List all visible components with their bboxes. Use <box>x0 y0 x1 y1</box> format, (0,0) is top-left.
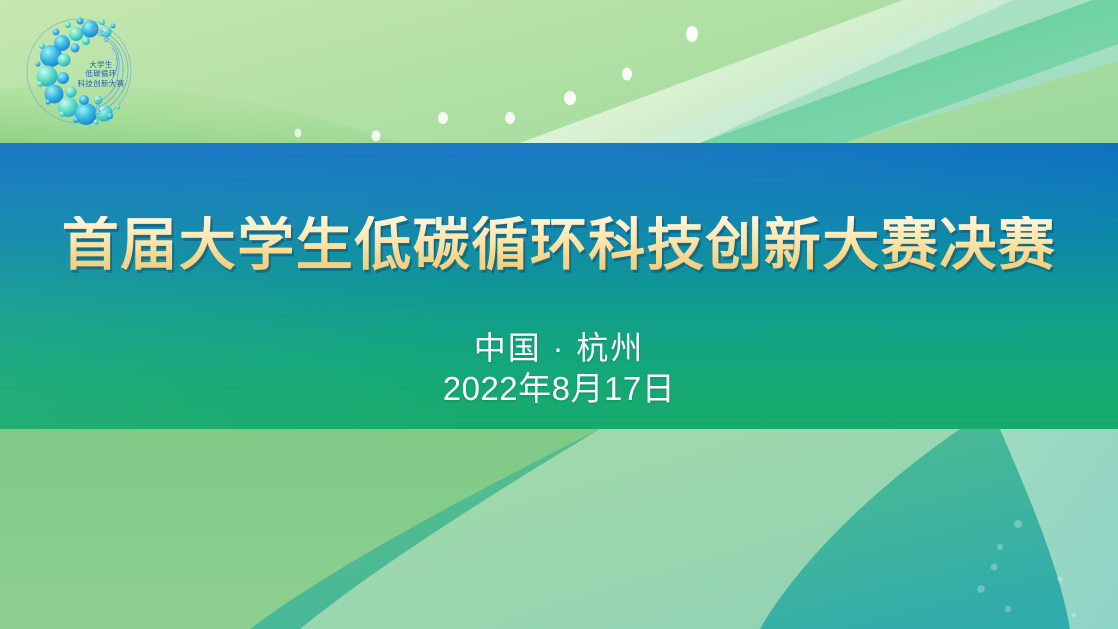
bottom-decorative-band <box>0 429 1118 629</box>
event-poster: 大学生 低碳循环 科技创新大赛 首届大学生低碳循环科技创新大赛决赛 中国 · 杭… <box>0 0 1118 629</box>
subtitle-container: 中国 · 杭州 2022年8月17日 <box>0 328 1118 410</box>
page-title-container: 首届大学生低碳循环科技创新大赛决赛 <box>0 216 1118 274</box>
top-background-graphics <box>0 0 1118 143</box>
top-decorative-band: 大学生 低碳循环 科技创新大赛 <box>0 0 1118 143</box>
event-date: 2022年8月17日 <box>0 368 1118 410</box>
event-location: 中国 · 杭州 <box>0 328 1118 368</box>
bottom-background-graphics <box>0 429 1118 629</box>
competition-emblem-logo: 大学生 低碳循环 科技创新大赛 <box>18 12 140 130</box>
page-title: 首届大学生低碳循环科技创新大赛决赛 <box>62 216 1057 274</box>
